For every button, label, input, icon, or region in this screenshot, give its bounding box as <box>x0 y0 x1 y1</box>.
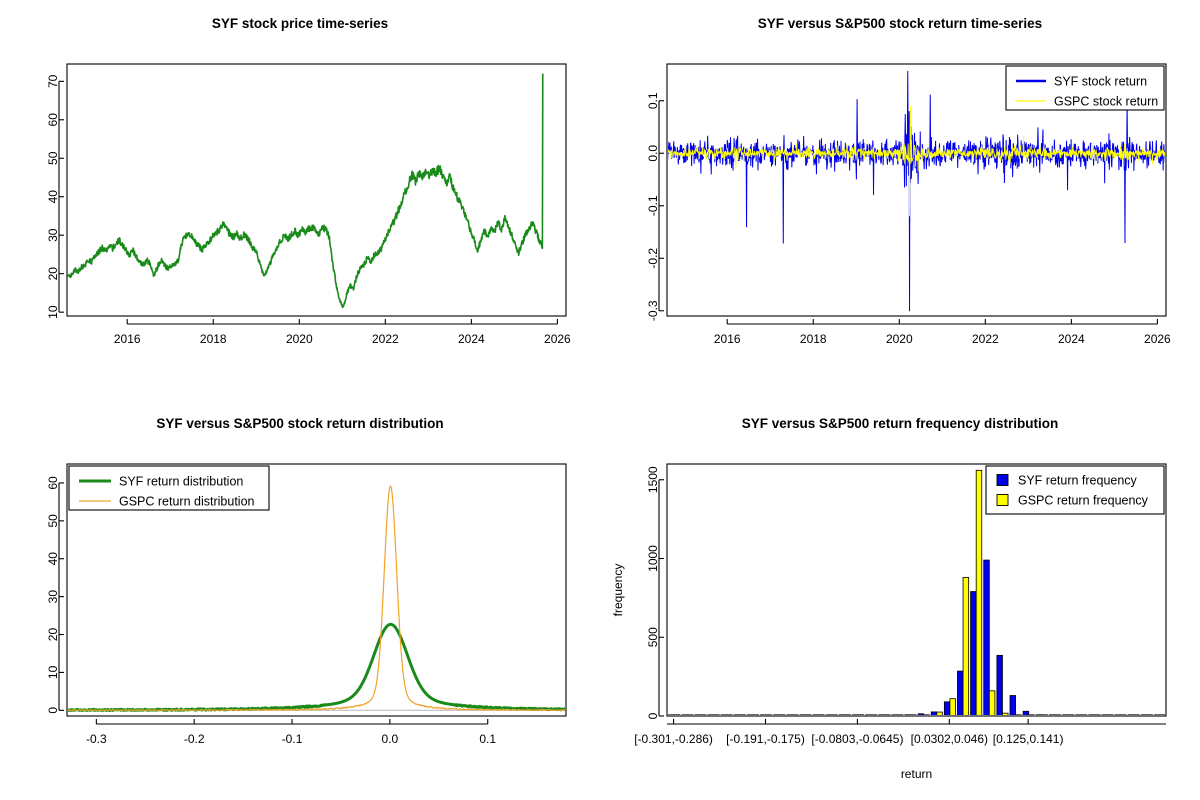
y-tick-label: 70 <box>46 74 60 88</box>
panel-density-chart: SYF versus S&P500 stock return distribut… <box>0 400 600 800</box>
price-line <box>68 74 543 308</box>
return-series-chart-svg: SYF versus S&P500 stock return time-seri… <box>600 0 1200 400</box>
y-tick-label: 20 <box>46 267 60 281</box>
x-tick-label: [-0.301,-0.286) <box>634 732 713 746</box>
histogram-bar <box>984 560 990 716</box>
panel-title: SYF versus S&P500 return frequency distr… <box>742 416 1059 431</box>
histogram-bar <box>957 671 963 716</box>
legend-swatch-square <box>997 495 1008 506</box>
y-tick-label: 60 <box>46 476 60 490</box>
y-tick-label: 500 <box>646 627 660 647</box>
y-tick-label: 10 <box>46 305 60 319</box>
y-tick-label: 40 <box>46 190 60 204</box>
histogram-bar <box>1010 696 1016 716</box>
x-tick-label: 2022 <box>372 332 399 346</box>
histogram-bar <box>931 712 937 716</box>
legend-label: GSPC return distribution <box>119 495 255 509</box>
y-tick-label: 0 <box>46 707 60 714</box>
density-line-syf <box>67 624 566 710</box>
x-tick-label: 2026 <box>1144 332 1171 346</box>
legend-label: SYF stock return <box>1054 75 1147 89</box>
y-tick-label: 0.0 <box>646 145 660 162</box>
panel-title: SYF versus S&P500 stock return distribut… <box>156 416 443 431</box>
y-tick-label: -0.2 <box>646 248 660 269</box>
x-tick-label: 2020 <box>286 332 313 346</box>
x-tick-label: [-0.191,-0.175) <box>726 732 805 746</box>
y-tick-label: 10 <box>46 665 60 679</box>
x-tick-label: 2020 <box>886 332 913 346</box>
legend-label: GSPC stock return <box>1054 95 1158 109</box>
x-tick-label: 2018 <box>800 332 827 346</box>
y-axis-label: frequency <box>611 564 625 617</box>
x-tick-label: 2026 <box>544 332 571 346</box>
x-axis-label: return <box>901 767 932 781</box>
y-tick-label: -0.3 <box>646 300 660 321</box>
y-tick-label: 0.1 <box>646 92 660 109</box>
histogram-bar <box>976 470 982 716</box>
panel-frequency-chart: SYF versus S&P500 return frequency distr… <box>600 400 1200 800</box>
y-tick-label: 1500 <box>646 466 660 493</box>
panel-title: SYF versus S&P500 stock return time-seri… <box>758 16 1042 31</box>
x-tick-label: 0.1 <box>479 732 496 746</box>
histogram-bar <box>1023 711 1029 716</box>
y-tick-label: 50 <box>46 151 60 165</box>
panel-title: SYF stock price time-series <box>212 16 388 31</box>
price-chart-svg: SYF stock price time-series1020304050607… <box>0 0 600 400</box>
y-tick-label: 20 <box>46 628 60 642</box>
histogram-bar <box>937 712 943 716</box>
legend-swatch-square <box>997 475 1008 486</box>
density-line-gspc <box>67 486 566 710</box>
x-tick-label: [0.125,0.141) <box>993 732 1064 746</box>
x-tick-label: [0.0302,0.046) <box>911 732 988 746</box>
histogram-bar <box>971 592 977 716</box>
histogram-bar <box>950 699 956 716</box>
figure-panel-grid: SYF stock price time-series1020304050607… <box>0 0 1200 800</box>
density-chart-svg: SYF versus S&P500 stock return distribut… <box>0 400 600 800</box>
legend-label: GSPC return frequency <box>1018 494 1149 508</box>
x-tick-label: 2024 <box>458 332 485 346</box>
x-tick-label: 2016 <box>114 332 141 346</box>
y-tick-label: 30 <box>46 590 60 604</box>
y-tick-label: 40 <box>46 552 60 566</box>
x-tick-label: 2018 <box>200 332 227 346</box>
x-tick-label: [-0.0803,-0.0645) <box>811 732 903 746</box>
x-tick-label: -0.3 <box>86 732 107 746</box>
plot-frame <box>67 64 566 316</box>
x-tick-label: -0.2 <box>184 732 205 746</box>
y-tick-label: 50 <box>46 514 60 528</box>
histogram-bar <box>989 691 995 716</box>
y-tick-label: 60 <box>46 113 60 127</box>
legend-label: SYF return frequency <box>1018 474 1138 488</box>
y-tick-label: -0.1 <box>646 195 660 216</box>
x-tick-label: 0.0 <box>382 732 399 746</box>
histogram-bar <box>944 702 950 716</box>
panel-return-series-chart: SYF versus S&P500 stock return time-seri… <box>600 0 1200 400</box>
x-tick-label: 2016 <box>714 332 741 346</box>
histogram-bar <box>963 577 969 716</box>
y-tick-label: 0 <box>646 712 660 719</box>
histogram-bar <box>997 655 1003 716</box>
frequency-chart-svg: SYF versus S&P500 return frequency distr… <box>600 400 1200 800</box>
panel-price-chart: SYF stock price time-series1020304050607… <box>0 0 600 400</box>
y-tick-label: 30 <box>46 228 60 242</box>
y-tick-label: 1000 <box>646 545 660 572</box>
legend-label: SYF return distribution <box>119 475 243 489</box>
x-tick-label: 2022 <box>972 332 999 346</box>
x-tick-label: 2024 <box>1058 332 1085 346</box>
x-tick-label: -0.1 <box>282 732 303 746</box>
